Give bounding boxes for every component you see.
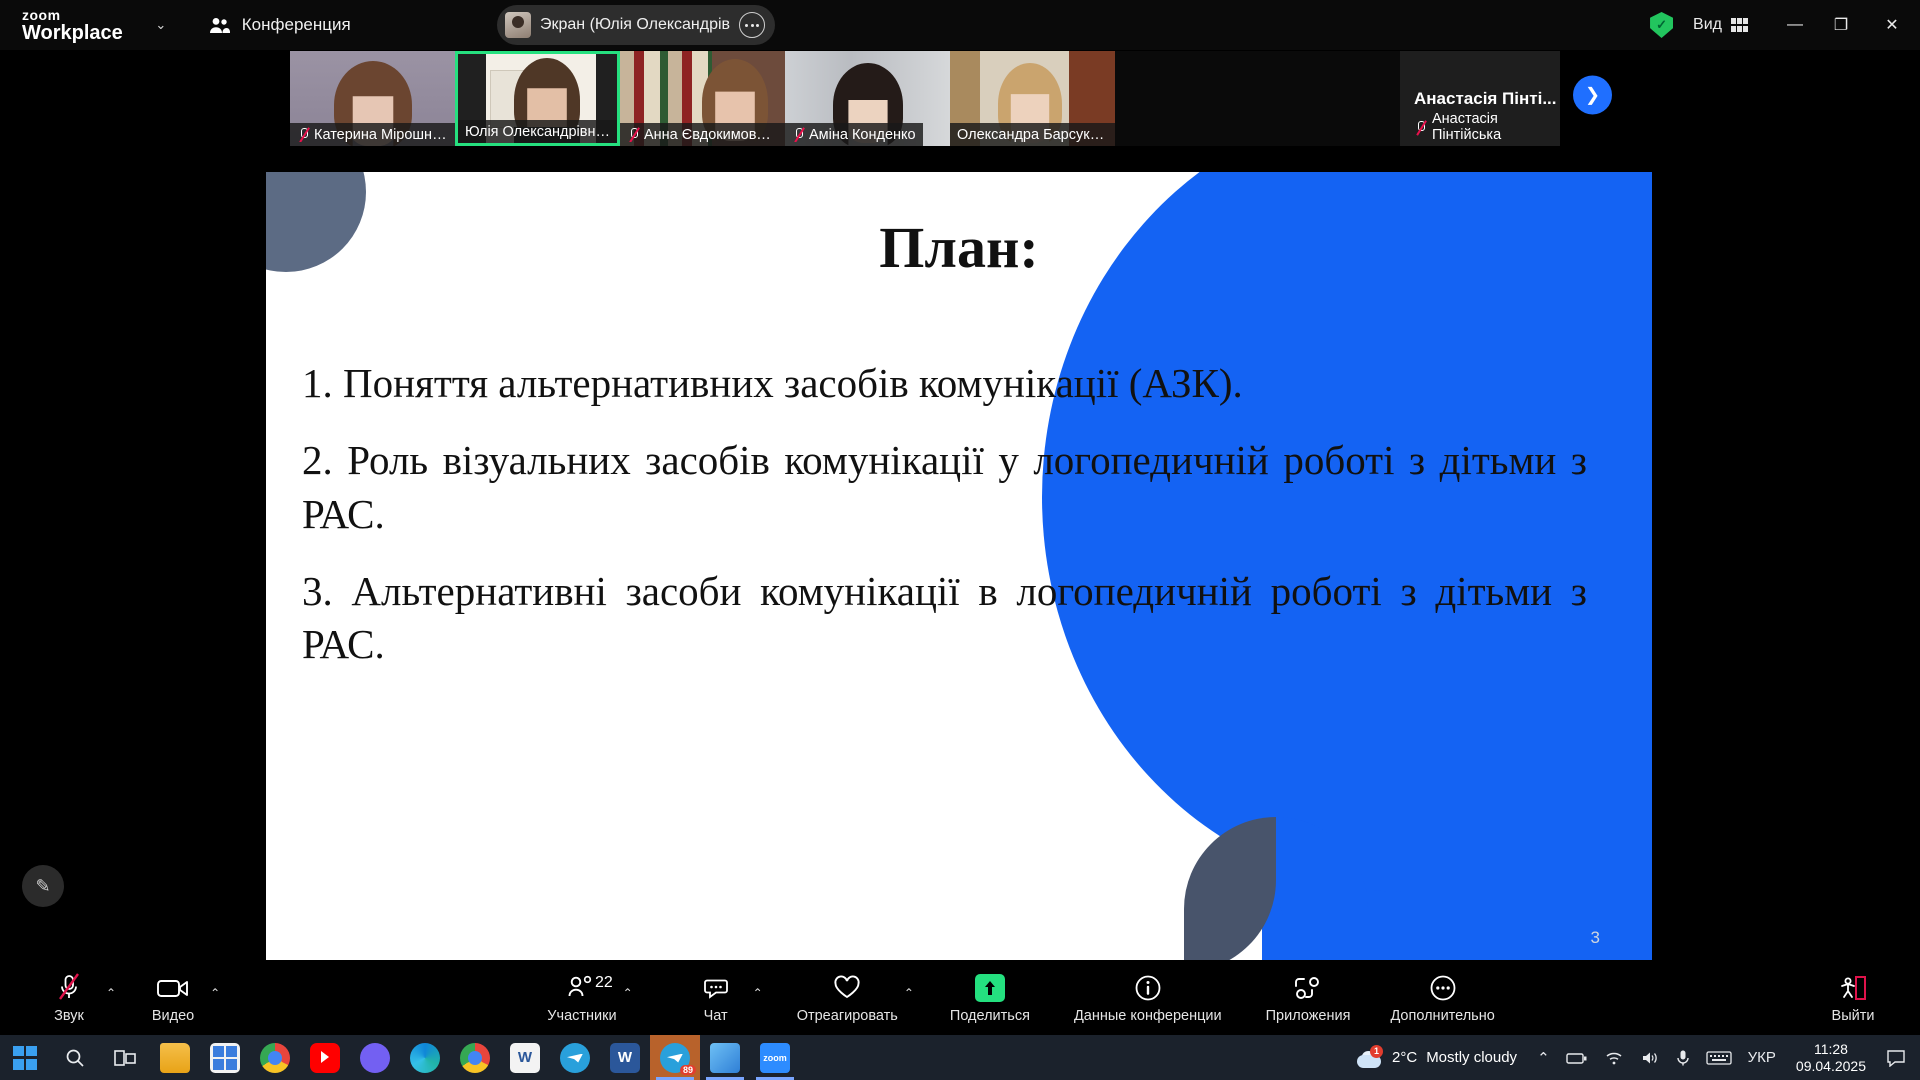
meeting-info-label: Данные конференции	[1074, 1008, 1222, 1024]
keyboard-icon[interactable]	[1698, 1050, 1740, 1066]
microphone-icon[interactable]	[1668, 1049, 1698, 1067]
mic-off-icon	[792, 127, 805, 142]
clock-widget[interactable]: 11:28 09.04.2025	[1784, 1041, 1878, 1073]
chrome-canary-icon[interactable]	[450, 1035, 500, 1080]
leave-label: Выйти	[1832, 1008, 1875, 1024]
slide-item-1: 1. Поняття альтернативних засобів комуні…	[302, 357, 1587, 410]
info-icon	[1134, 972, 1162, 1004]
mic-off-icon	[297, 127, 310, 142]
audio-button[interactable]: Звук	[38, 972, 100, 1024]
video-label: Видео	[152, 1008, 194, 1024]
start-button[interactable]	[0, 1035, 50, 1080]
photos-icon[interactable]	[700, 1035, 750, 1080]
chat-caret-icon[interactable]: ⌃	[753, 986, 763, 1000]
word-alt-icon[interactable]: W	[500, 1035, 550, 1080]
telegram-active-icon[interactable]: 89	[650, 1035, 700, 1080]
share-screen-icon	[975, 972, 1005, 1004]
weather-widget[interactable]: 1 2°C Mostly cloudy	[1345, 1047, 1529, 1069]
apps-label: Приложения	[1266, 1008, 1351, 1024]
apps-icon	[1293, 972, 1323, 1004]
battery-icon[interactable]	[1558, 1051, 1596, 1065]
audio-caret-icon[interactable]: ⌃	[106, 986, 116, 1000]
leave-door-icon	[1837, 972, 1869, 1004]
thumbnail-3[interactable]: Аміна Конденко	[785, 51, 950, 146]
participant-name: Аміна Конденко	[809, 127, 916, 143]
task-view-icon[interactable]	[100, 1035, 150, 1080]
slide-title: План:	[266, 214, 1652, 281]
participant-name: Анна Євдокимова (С...	[644, 127, 778, 143]
thumbnail-name-4: Олександра Барсукова (...	[950, 123, 1115, 146]
chevron-down-icon[interactable]: ⌄	[151, 17, 171, 33]
wifi-icon[interactable]	[1596, 1050, 1632, 1066]
word-icon[interactable]: W	[600, 1035, 650, 1080]
meeting-control-bar: Звук ⌃ Видео ⌃ Участники	[0, 960, 1920, 1035]
grid-view-icon	[1731, 18, 1748, 32]
screen-share-pill[interactable]: Экран (Юлія Олександрівна Сід	[497, 5, 775, 45]
participant-thumbnail-strip: Катерина Мірошниче... Юлія Олександрівна…	[290, 51, 1560, 146]
chat-button[interactable]: Чат	[685, 972, 747, 1024]
view-label: Вид	[1693, 16, 1722, 34]
share-label: Поделиться	[950, 1008, 1030, 1024]
presentation-slide: План: 1. Поняття альтернативних засобів …	[266, 172, 1652, 970]
viber-icon[interactable]	[350, 1035, 400, 1080]
brand-line-2: Workplace	[22, 23, 123, 43]
conference-tab[interactable]: Конференция	[209, 15, 351, 35]
mic-off-icon	[627, 127, 640, 142]
youtube-icon[interactable]	[300, 1035, 350, 1080]
next-participant-sub: Анастасія Пінтійська	[1414, 111, 1560, 143]
windows-taskbar: W W 89 zoom 1 2°C Mostly cloudy ⌃	[0, 1035, 1920, 1080]
participant-name: Анастасія Пінтійська	[1432, 111, 1560, 143]
chat-icon	[702, 972, 730, 1004]
thumbnail-0[interactable]: Катерина Мірошниче...	[290, 51, 455, 146]
participant-name: Олександра Барсукова (...	[957, 127, 1108, 143]
react-caret-icon[interactable]: ⌃	[904, 986, 914, 1000]
thumbnail-name-2: Анна Євдокимова (С...	[620, 123, 785, 146]
thumbnail-2[interactable]: Анна Євдокимова (С...	[620, 51, 785, 146]
camera-icon	[156, 972, 190, 1004]
more-button[interactable]: Дополнительно	[1390, 972, 1494, 1024]
more-label: Дополнительно	[1390, 1008, 1494, 1024]
clock-date: 09.04.2025	[1796, 1058, 1866, 1074]
more-dots-icon	[1429, 972, 1457, 1004]
thumbnail-name-1: Юлія Олександрівна Сіде...	[458, 120, 617, 143]
share-pill-label: Экран (Юлія Олександрівна Сід	[540, 16, 730, 34]
zoom-taskbar-icon[interactable]: zoom	[750, 1035, 800, 1080]
share-button[interactable]: Поделиться	[950, 972, 1030, 1024]
thumbnail-4[interactable]: Олександра Барсукова (...	[950, 51, 1115, 146]
next-page-button[interactable]: ❯	[1573, 76, 1612, 115]
participant-name: Катерина Мірошниче...	[314, 127, 448, 143]
weather-temperature: 2°C	[1392, 1049, 1417, 1066]
slide-item-2: 2. Роль візуальних засобів комунікації у…	[302, 434, 1587, 541]
thumbnail-name-0: Катерина Мірошниче...	[290, 123, 455, 146]
close-button[interactable]: ✕	[1864, 0, 1920, 50]
chat-label: Чат	[704, 1008, 728, 1024]
meeting-info-button[interactable]: Данные конференции	[1074, 972, 1222, 1024]
clock-time: 11:28	[1796, 1041, 1866, 1057]
next-participant-panel[interactable]: Анастасія Пінті... Анастасія Пінтійська	[1400, 51, 1560, 146]
minimize-button[interactable]: —	[1772, 0, 1818, 50]
restore-button[interactable]: ❐	[1818, 0, 1864, 50]
apps-button[interactable]: Приложения	[1266, 972, 1351, 1024]
file-explorer-icon[interactable]	[150, 1035, 200, 1080]
microsoft-store-icon[interactable]	[200, 1035, 250, 1080]
volume-icon[interactable]	[1632, 1050, 1668, 1066]
next-participant-name: Анастасія Пінті...	[1414, 89, 1556, 109]
zoom-logo: zoom Workplace	[22, 8, 123, 43]
security-shield-icon[interactable]	[1650, 12, 1673, 38]
shared-screen-stage: План: 1. Поняття альтернативних засобів …	[0, 147, 1920, 955]
mic-off-icon	[56, 972, 82, 1004]
search-icon[interactable]	[50, 1035, 100, 1080]
leave-button[interactable]: Выйти	[1822, 972, 1884, 1024]
video-button[interactable]: Видео	[142, 972, 204, 1024]
slide-item-3: 3. Альтернативні засоби комунікації в ло…	[302, 565, 1587, 672]
participants-icon	[567, 972, 597, 1004]
slide-body: 1. Поняття альтернативних засобів комуні…	[302, 357, 1587, 695]
weather-badge: 1	[1370, 1045, 1383, 1058]
action-center-icon[interactable]	[1878, 1049, 1914, 1067]
participants-button[interactable]: Участники 22	[547, 972, 616, 1024]
thumbnail-1[interactable]: Юлія Олександрівна Сіде...	[455, 51, 620, 146]
react-label: Отреагировать	[797, 1008, 898, 1024]
telegram-icon[interactable]	[550, 1035, 600, 1080]
participants-count: 22	[595, 974, 613, 992]
share-more-icon[interactable]	[739, 12, 765, 38]
video-caret-icon[interactable]: ⌃	[210, 986, 220, 1000]
view-button[interactable]: Вид	[1693, 16, 1748, 34]
conference-label: Конференция	[242, 15, 351, 35]
system-tray: 1 2°C Mostly cloudy ⌃ УКР 11:28 09.04.20…	[1345, 1041, 1920, 1073]
language-indicator[interactable]: УКР	[1740, 1049, 1784, 1066]
edge-icon[interactable]	[400, 1035, 450, 1080]
weather-condition: Mostly cloudy	[1426, 1049, 1517, 1066]
participants-group-icon	[209, 17, 231, 34]
brand-line-1: zoom	[22, 8, 123, 22]
audio-label: Звук	[54, 1008, 84, 1024]
participants-label: Участники	[547, 1008, 616, 1024]
heart-icon	[832, 972, 862, 1004]
tray-chevron-icon[interactable]: ⌃	[1529, 1049, 1558, 1067]
participants-caret-icon[interactable]: ⌃	[623, 986, 633, 1000]
title-bar: zoom Workplace ⌄ Конференция Экран (Юлія…	[0, 0, 1920, 50]
slide-page-number: 3	[1591, 928, 1600, 948]
window-controls-group: Вид — ❐ ✕	[1650, 0, 1920, 50]
mic-off-icon	[1414, 120, 1427, 135]
chrome-icon[interactable]	[250, 1035, 300, 1080]
thumbnail-name-3: Аміна Конденко	[785, 123, 923, 146]
cloud-icon: 1	[1357, 1047, 1383, 1069]
react-button[interactable]: Отреагировать	[797, 972, 898, 1024]
sharer-avatar	[505, 12, 531, 38]
participant-name: Юлія Олександрівна Сіде...	[465, 124, 610, 140]
annotate-pen-icon[interactable]: ✎	[22, 865, 64, 907]
